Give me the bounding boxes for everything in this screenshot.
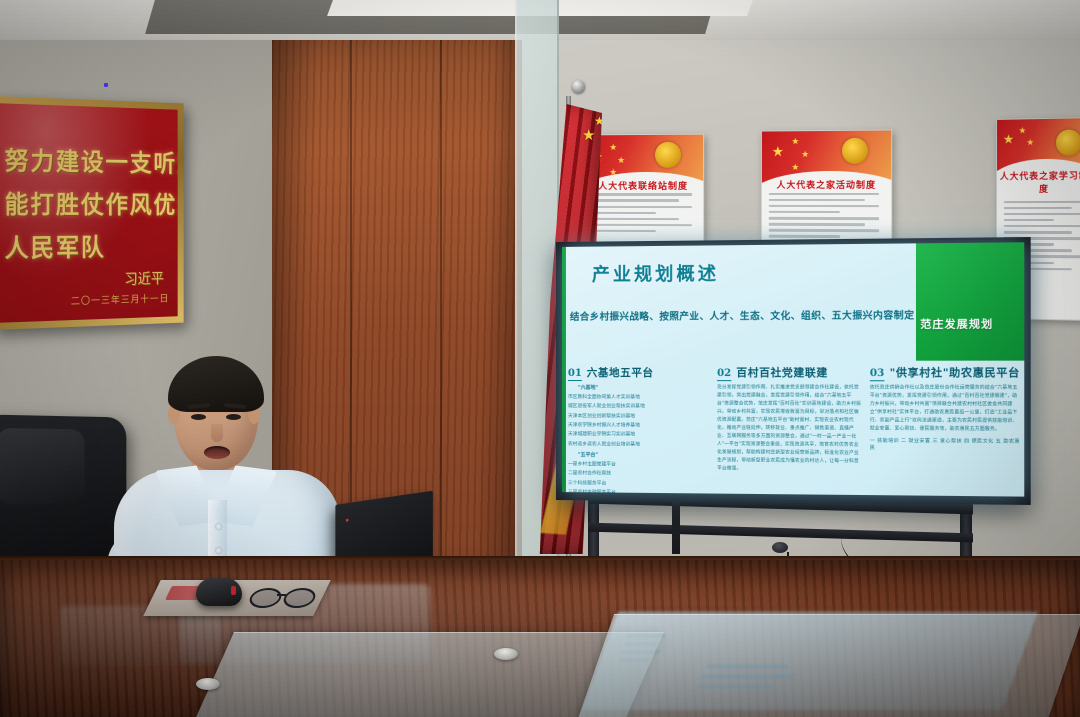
list-item: 城区退役军人就业创业帮扶实训基地 [568, 402, 711, 412]
chair-logo-dot [104, 83, 108, 87]
table-cable-grommet[interactable] [494, 648, 518, 660]
wall-poster-2: ★ ★ ★ ★ 人大代表之家活动制度 [761, 129, 892, 256]
slide-column-3: 03 "供享村社"助农惠民平台 依托范庄供销合作社以及范庄股份合作社运营服务的结… [870, 365, 1020, 493]
plaque-date: 二〇一三年三月十一日 [71, 290, 169, 307]
slide-title: 产业规划概述 [592, 260, 719, 287]
list-item: 三是农村金融服务平台 [568, 488, 711, 496]
chair-highlight [0, 427, 85, 504]
lens-left [247, 588, 284, 608]
column-number: 02 [717, 368, 731, 381]
plaque-signature: 习近平 [124, 268, 164, 289]
plaque-line-2: 能打胜仗作风优良的 [5, 185, 184, 221]
shirt-button [216, 548, 221, 553]
meeting-room-photo: 努力建设一支听党指挥 能打胜仗作风优良的 人民军队 习近平 二〇一三年三月十一日… [0, 0, 1080, 717]
display-screen: 范庄发展规划 产业规划概述 结合乡村振兴战略、按照产业、人才、生态、文化、组织、… [562, 242, 1024, 496]
eyeglasses[interactable] [250, 586, 322, 608]
table-cable-grommet[interactable] [196, 678, 220, 690]
slide-highlight-box: 范庄发展规划 [916, 242, 1024, 360]
tv-stand-wheel [772, 542, 788, 553]
slide-highlight-text: 范庄发展规划 [920, 316, 1022, 332]
eye-left [191, 414, 206, 420]
column-number: 01 [568, 368, 582, 381]
column-subheading-2: "五平台" [578, 451, 711, 459]
shirt-button [216, 524, 221, 529]
poster-body [762, 183, 891, 238]
national-emblem-icon [655, 142, 681, 168]
column-list-b: 一是乡村主题党建平台 二是农村合作社帮扶 三个科技服务平台 三是农村金融服务平台… [568, 460, 711, 496]
slide-column-2: 02 百村百社党建联建 充分发挥党建引领作用、扎实推进党支部领建合作社建设，依托… [717, 365, 863, 491]
hair [168, 356, 264, 412]
poster-title: 人大代表之家活动制度 [762, 178, 891, 191]
plaque-line-3: 人民军队 [5, 228, 106, 264]
column-number: 03 [870, 368, 885, 381]
computer-mouse[interactable] [196, 578, 242, 606]
door-knob-icon[interactable] [572, 80, 585, 93]
slide-columns: 01 六基地五平台 "六基地" 市区教科全面协同第人才实训基地 城区退役军人就业… [568, 365, 1020, 493]
column-title: 百村百社党建联建 [736, 365, 828, 380]
lens-right [281, 588, 318, 608]
laptop-indicator-led [346, 519, 349, 522]
glasses-bridge [277, 594, 286, 596]
column-body: 依托范庄供销合作社以及范庄股份合作社运营服务的结合"六基地五平台"资源优势，发挥… [870, 384, 1020, 434]
mouth-open-speaking [204, 446, 230, 459]
slide-accent-bar [562, 247, 566, 492]
poster-flag-header: ★ ★ ★ [997, 118, 1080, 171]
column-subheading: "六基地" [578, 384, 711, 391]
slide-column-1: 01 六基地五平台 "六基地" 市区教科全面协同第人才实训基地 城区退役军人就业… [568, 365, 711, 490]
list-item: 市区教科全面协同第人才实训基地 [568, 393, 711, 403]
national-emblem-icon [1056, 130, 1080, 157]
column-title: "供享村社"助农惠民平台 [890, 365, 1020, 381]
column-body: 充分发挥党建引领作用、扎实推进党支部领建合作社建设，依托党建引领，突出党建融合，… [717, 384, 863, 475]
mouse-led-icon [231, 586, 236, 595]
column-footer: 一 技能培训 二 就业安置 三 爱心帮扶 四 便民文化 五 助农惠民 [870, 437, 1020, 452]
column-title: 六基地五平台 [587, 365, 654, 380]
red-wall-plaque: 努力建设一支听党指挥 能打胜仗作风优良的 人民军队 习近平 二〇一三年三月十一日 [0, 96, 184, 330]
list-item: 农村返乡返农人就业创业培训基地 [568, 440, 711, 450]
nose [211, 424, 223, 442]
eye-right [226, 414, 241, 420]
wall-display[interactable]: 范庄发展规划 产业规划概述 结合乡村振兴战略、按照产业、人才、生态、文化、组织、… [556, 237, 1031, 505]
plaque-line-1: 努力建设一支听党指挥 [5, 141, 184, 180]
table-glass-inlay-right [578, 614, 1080, 717]
list-item: 天津本区创业创新帮扶实训基地 [568, 412, 711, 422]
column-list-a: 市区教科全面协同第人才实训基地 城区退役军人就业创业帮扶实训基地 天津本区创业创… [568, 393, 711, 450]
poster-title: 人大代表之家学习制度 [997, 169, 1080, 196]
slide-subtitle: 结合乡村振兴战略、按照产业、人才、生态、文化、组织、五大振兴内容制定 [570, 307, 918, 323]
poster-flag-header: ★ ★ ★ ★ [762, 130, 891, 183]
list-item: 天津城建职业学院实习实训基地 [568, 430, 711, 440]
national-emblem-icon [842, 138, 868, 164]
